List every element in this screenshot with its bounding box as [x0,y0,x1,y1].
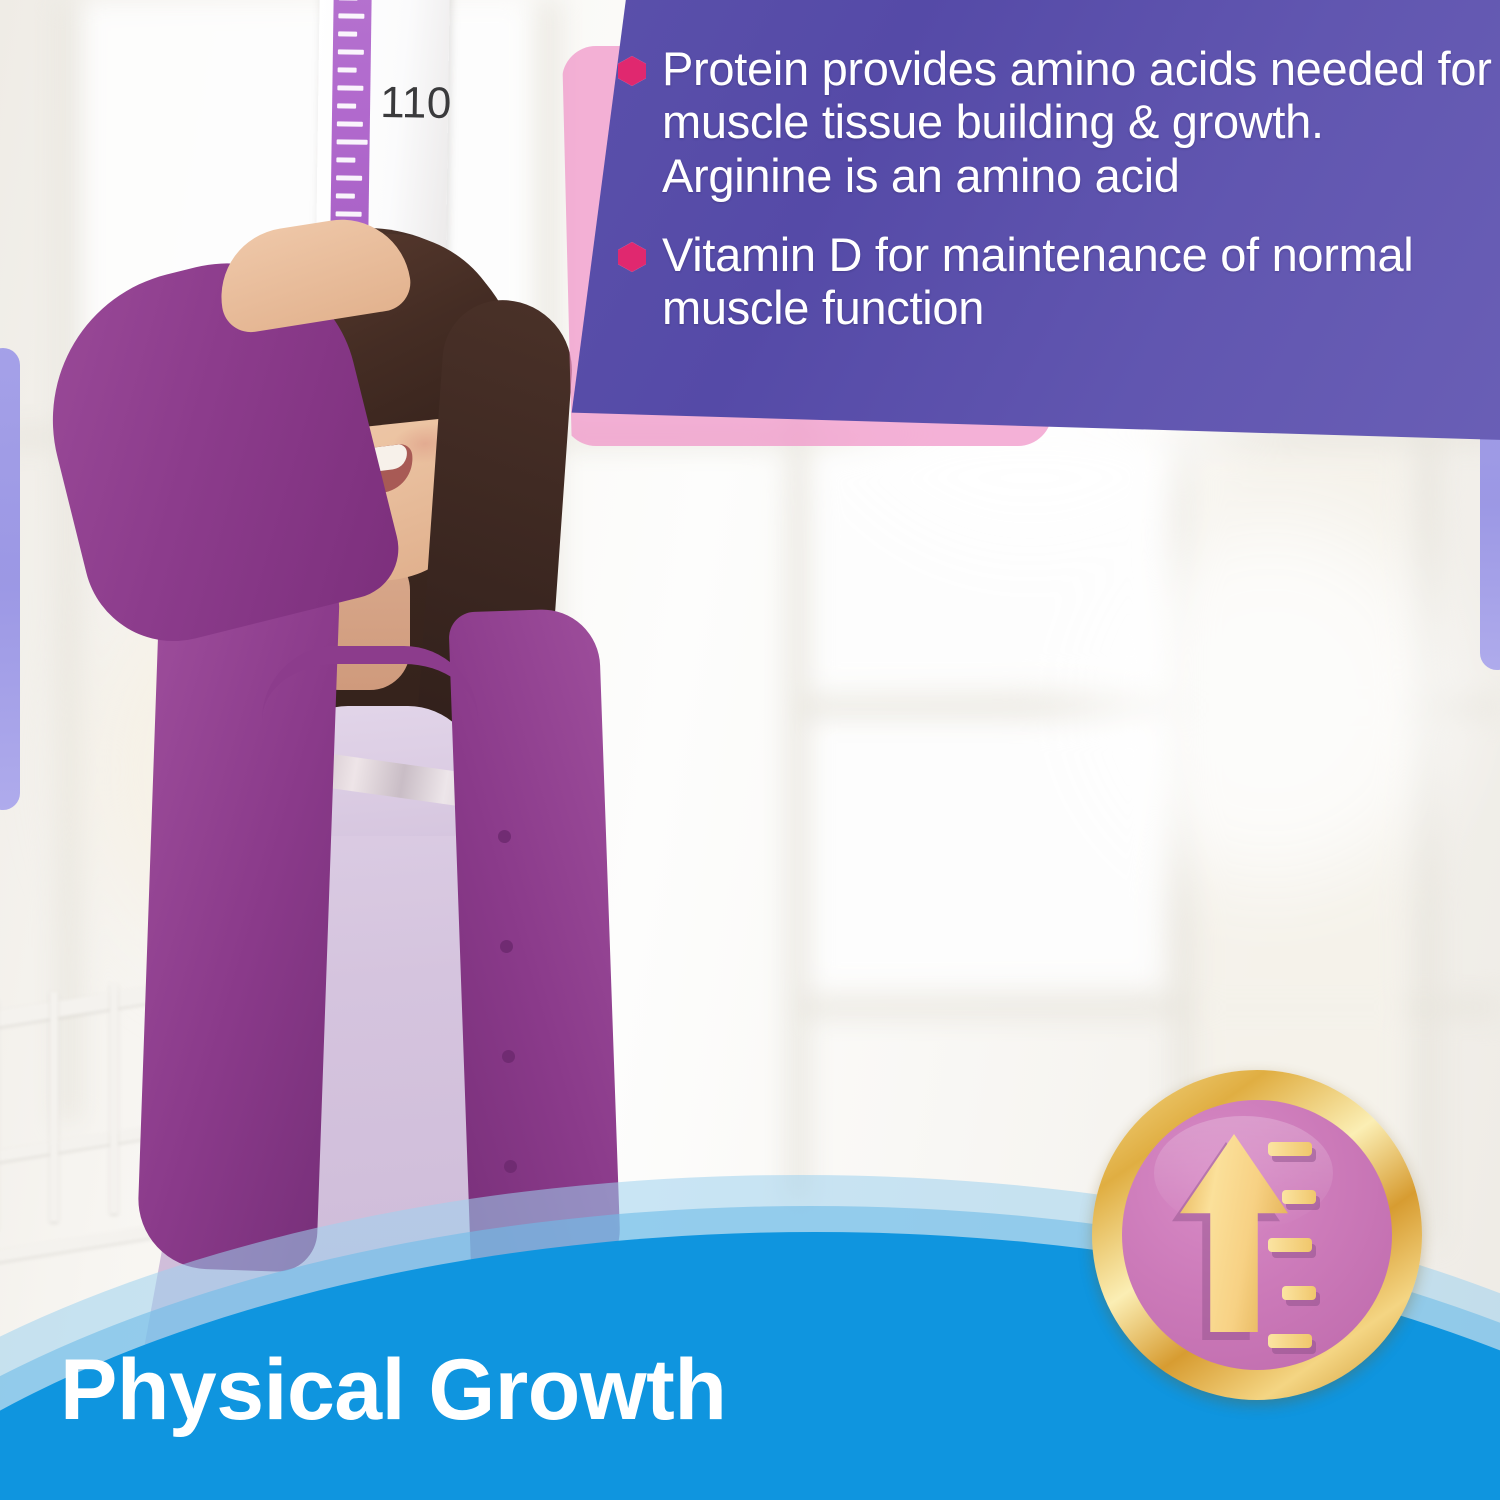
badge-tick [1268,1334,1312,1348]
page-title: Physical Growth [60,1341,726,1440]
benefit-list: Protein provides amino acids needed for … [618,42,1498,361]
hexagon-bullet-icon [618,56,646,86]
badge-tick [1282,1286,1316,1300]
benefit-text-vitamin-d: Vitamin D for maintenance of normal musc… [662,228,1498,335]
badge-face [1122,1100,1392,1370]
badge-tick [1268,1142,1312,1156]
cardigan-button [500,940,513,953]
list-item: Vitamin D for maintenance of normal musc… [618,228,1498,335]
ruler-label-110: 110 [380,78,452,129]
window-glow [1090,520,1450,880]
cardigan-button [502,1050,515,1063]
benefits-callout: Protein provides amino acids needed for … [540,0,1500,470]
cardigan-button [498,830,511,843]
promo-panel: 120 110 [0,0,1500,1500]
badge-tick [1268,1238,1312,1252]
rounded-tab-accent-left [0,348,20,810]
list-item: Protein provides amino acids needed for … [618,42,1498,202]
badge-tick [1282,1190,1316,1204]
benefit-text-protein: Protein provides amino acids needed for … [662,42,1498,202]
ruler-label-120: 120 [382,0,458,3]
growth-arrow-badge-icon [1092,1070,1422,1400]
hexagon-bullet-icon [618,242,646,272]
